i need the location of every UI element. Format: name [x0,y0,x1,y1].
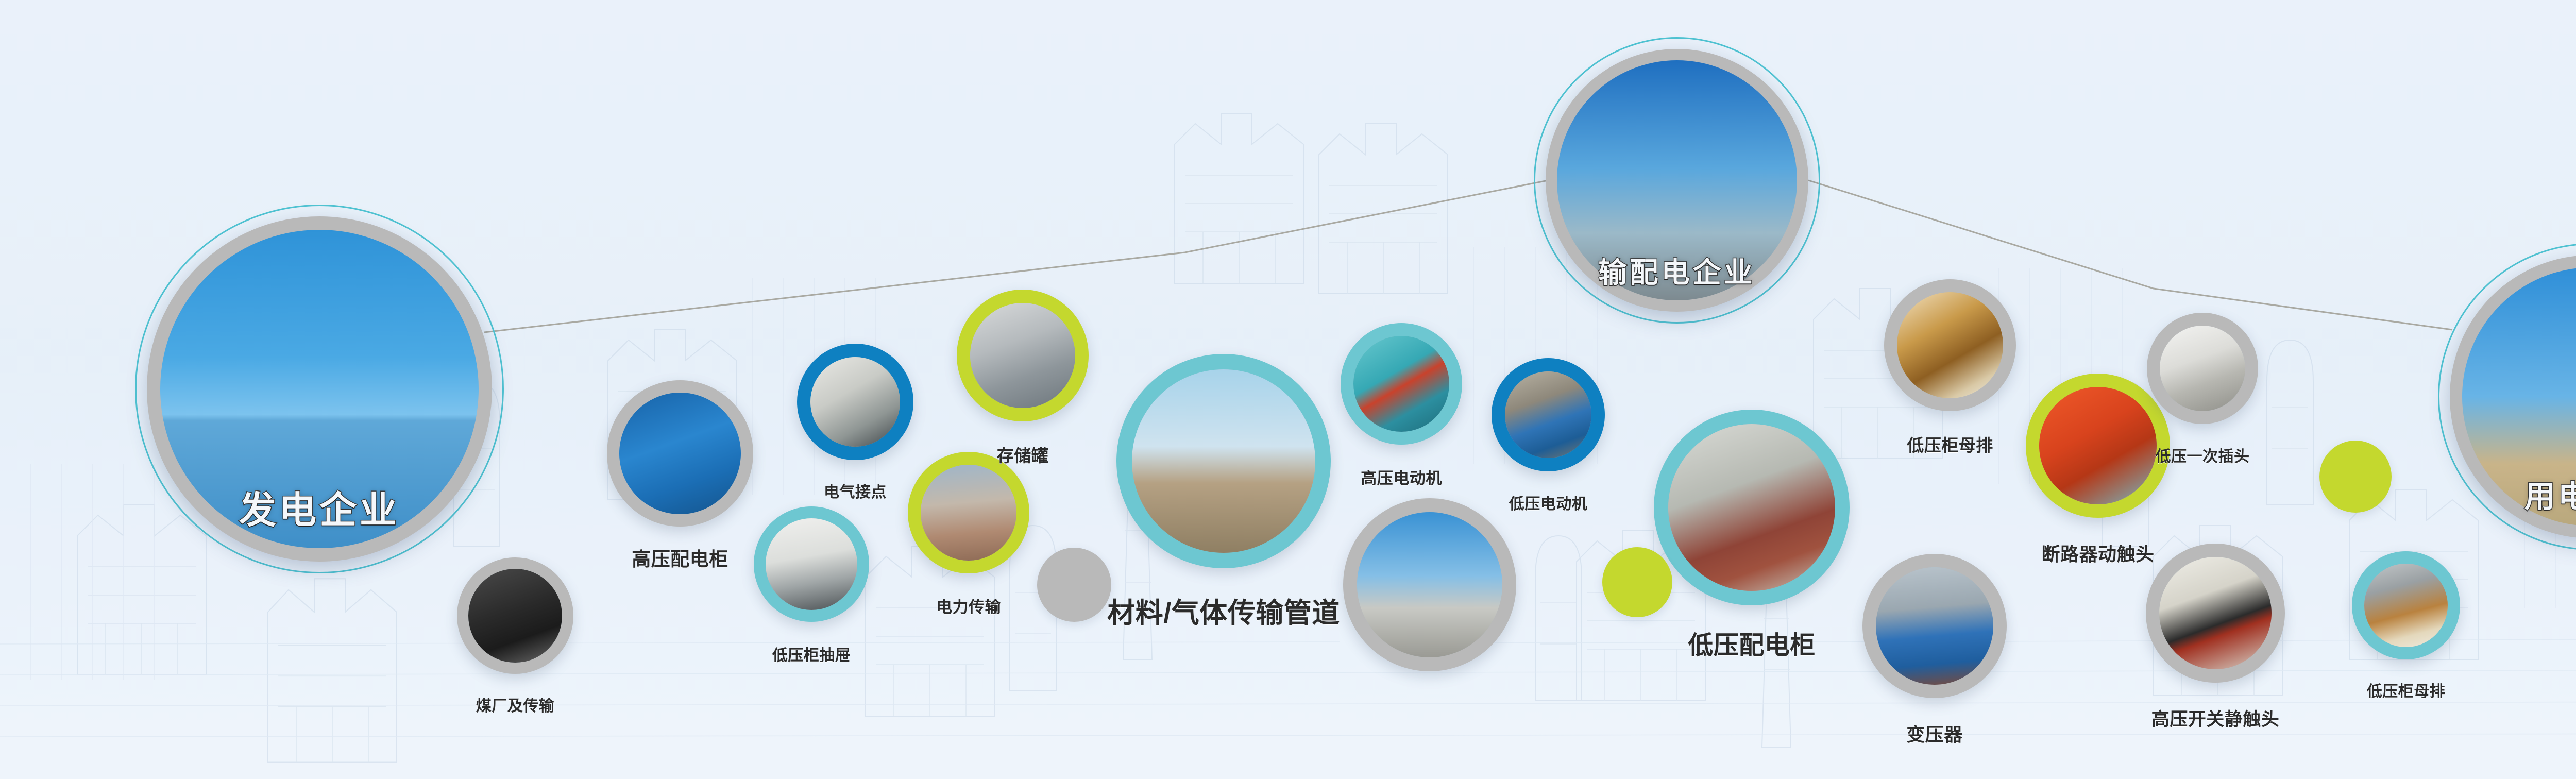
hero-label-power-generation: 发电企业 [239,480,400,534]
node-coal-plant-transport[interactable] [457,557,573,674]
node-transformer[interactable] [1862,554,2007,698]
decorative-ring-lime-mid [1602,547,1672,617]
node-ring-coal-plant-transport [457,557,573,674]
node-photo-lv-primary-plug [2160,326,2245,411]
node-lv-primary-plug[interactable] [2147,313,2258,424]
node-ring-power-consumption: 用电企业 [2450,255,2576,538]
node-ring-storage-tank [957,290,1089,421]
node-photo-lv-cabinet-drawer [766,518,857,610]
photo-scene-lv-motor [1505,371,1591,458]
caption-storage-tank: 存储罐 [997,442,1049,467]
node-ring-power-transmission [908,452,1029,573]
node-hv-distribution-cabinet[interactable] [607,380,753,527]
infographic-canvas: 发电企业输配电企业用电企业 煤厂及传输高压配电柜低压柜抽屉电气接点电力传输存储罐… [0,0,2576,779]
node-ring-lv-cabinet-drawer [754,506,869,622]
photo-scene-transformer [1876,567,1993,685]
node-ring-transmission-distribution: 输配电企业 [1546,49,1808,312]
node-photo-material-gas-pipeline [1132,369,1315,553]
photo-scene-lv-distribution-cabinet [1668,424,1835,591]
node-photo-storage-tank [970,303,1075,408]
node-lv-cabinet-busbar-bottom[interactable] [2352,551,2460,659]
caption-lv-primary-plug: 低压一次插头 [2156,444,2250,466]
node-lv-distribution-cabinet[interactable] [1654,410,1850,605]
hero-label-transmission-distribution: 输配电企业 [1598,249,1755,291]
caption-lv-cabinet-busbar-bottom: 低压柜母排 [2367,679,2446,701]
node-photo-lv-motor [1505,371,1591,458]
photo-scene-material-gas-pipeline [1132,369,1315,553]
node-ring-lv-cabinet-busbar-top [1884,279,2016,411]
node-photo-lv-distribution-cabinet [1668,424,1835,591]
photo-scene-hv-switch-static-contact [2159,557,2272,669]
photo-scene-coal-plant-transport [468,569,562,663]
node-ring-material-gas-pipeline [1116,354,1331,568]
node-photo-electrical-contact [810,357,900,447]
caption-lv-distribution-cabinet: 低压配电柜 [1688,625,1816,662]
node-ring-chemical-plant [1343,498,1516,671]
node-electrical-contact[interactable] [797,344,913,460]
caption-hv-distribution-cabinet: 高压配电柜 [632,544,728,571]
photo-scene-storage-tank [970,303,1075,408]
node-lv-motor[interactable] [1492,358,1605,471]
caption-power-transmission: 电力传输 [936,594,1001,617]
decorative-ring-lime-right [2319,441,2392,513]
caption-lv-cabinet-busbar-top: 低压柜母排 [1907,432,1993,456]
node-lv-cabinet-busbar-top[interactable] [1884,279,2016,411]
node-ring-hv-motor [1341,323,1462,445]
node-photo-hv-distribution-cabinet [619,393,741,514]
caption-hv-switch-static-contact: 高压开关静触头 [2151,705,2280,731]
node-hv-motor[interactable] [1341,323,1462,445]
caption-lv-cabinet-drawer: 低压柜抽屉 [772,642,851,665]
decorative-hole-ring-lime-right [2331,452,2380,501]
decorative-hole-ring-lime-mid [1614,558,1661,606]
node-ring-lv-primary-plug [2147,313,2258,424]
node-photo-transformer [1876,567,1993,685]
photo-scene-breaker-moving-contact [2039,387,2157,504]
node-photo-hv-motor [1353,336,1449,432]
node-ring-lv-cabinet-busbar-bottom [2352,551,2460,659]
node-ring-hv-distribution-cabinet [607,380,753,527]
node-ring-electrical-contact [797,344,913,460]
caption-transformer: 变压器 [1906,720,1963,747]
photo-scene-lv-cabinet-busbar-top [1897,292,2003,398]
caption-coal-plant-transport: 煤厂及传输 [476,693,555,716]
caption-hv-motor: 高压电动机 [1361,465,1442,488]
photo-scene-electrical-contact [810,357,900,447]
node-power-generation[interactable]: 发电企业 [147,216,492,562]
node-photo-lv-cabinet-busbar-bottom [2364,564,2448,647]
decorative-ring-ring-lime-right [2319,441,2392,513]
node-ring-lv-motor [1492,358,1605,471]
photo-scene-power-transmission [921,465,1016,561]
photo-scene-chemical-plant [1357,512,1502,657]
node-photo-power-transmission [921,465,1016,561]
node-photo-chemical-plant [1357,512,1502,657]
node-power-transmission[interactable] [908,452,1029,573]
caption-breaker-moving-contact: 断路器动触头 [2041,539,2154,566]
caption-lv-motor: 低压电动机 [1509,491,1588,514]
node-ring-transformer [1862,554,2007,698]
node-photo-lv-cabinet-busbar-top [1897,292,2003,398]
node-photo-coal-plant-transport [468,569,562,663]
photo-scene-lv-primary-plug [2160,326,2245,411]
node-material-gas-pipeline[interactable] [1116,354,1331,568]
node-transmission-distribution[interactable]: 输配电企业 [1546,49,1808,312]
node-power-consumption[interactable]: 用电企业 [2450,255,2576,538]
decorative-hole-ring-gray-left [1048,559,1100,611]
caption-electrical-contact: 电气接点 [824,479,887,502]
node-ring-hv-switch-static-contact [2146,544,2285,683]
photo-scene-lv-cabinet-drawer [766,518,857,610]
node-chemical-plant[interactable] [1343,498,1516,671]
caption-material-gas-pipeline: 材料/气体传输管道 [1107,590,1340,631]
node-photo-hv-switch-static-contact [2159,557,2272,669]
node-hv-switch-static-contact[interactable] [2146,544,2285,683]
node-ring-power-generation: 发电企业 [147,216,492,562]
photo-scene-hv-motor [1353,336,1449,432]
node-ring-lv-distribution-cabinet [1654,410,1850,605]
node-storage-tank[interactable] [957,290,1089,421]
decorative-ring-gray-left [1037,548,1111,622]
node-photo-breaker-moving-contact [2039,387,2157,504]
hero-label-power-consumption: 用电企业 [2524,472,2576,516]
decorative-ring-ring-gray-left [1037,548,1111,622]
decorative-ring-ring-lime-mid [1602,547,1672,617]
node-lv-cabinet-drawer[interactable] [754,506,869,622]
photo-scene-hv-distribution-cabinet [619,393,741,514]
photo-scene-lv-cabinet-busbar-bottom [2364,564,2448,647]
